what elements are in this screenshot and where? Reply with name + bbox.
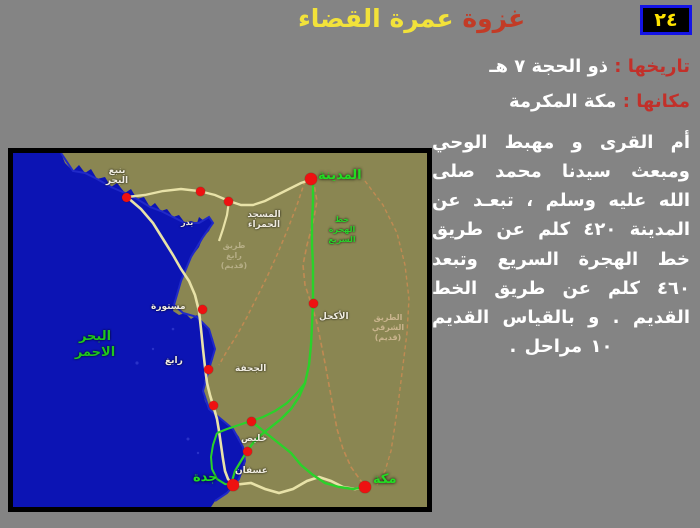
page-title: غزوة عمرة القضاء bbox=[298, 6, 628, 31]
sea-speckle bbox=[135, 361, 138, 364]
date-value: ذو الحجة ٧ هـ bbox=[489, 56, 608, 77]
green-khulais-usfan-makkah bbox=[251, 421, 365, 489]
body-paragraph: أم القرى و مهبط الوحي ومبعث سيدنا محمد ص… bbox=[432, 128, 690, 361]
sea-speckle bbox=[197, 452, 199, 454]
title-yellow-words: عمرة القضاء bbox=[298, 4, 454, 33]
date-label: تاريخها : bbox=[614, 56, 690, 77]
city-dot-jeddah[interactable] bbox=[227, 479, 239, 491]
city-dot-makkah[interactable] bbox=[359, 481, 371, 493]
map-canvas: البحر الاحمر المدينة مكة جدة ينبع البحر … bbox=[13, 153, 427, 507]
slide-number-badge: ٢٤ bbox=[640, 5, 692, 35]
city-dot-road-node-1[interactable] bbox=[196, 187, 205, 196]
slide-root: ٢٤ غزوة عمرة القضاء تاريخها : ذو الحجة ٧… bbox=[0, 0, 700, 528]
badr-connector bbox=[219, 201, 229, 241]
map-geometry bbox=[13, 153, 427, 507]
yanbu-badr-medina-road bbox=[127, 179, 313, 205]
place-line: مكانها : مكة المكرمة bbox=[432, 93, 690, 111]
city-dot-juhfa[interactable] bbox=[209, 401, 218, 410]
place-value: مكة المكرمة bbox=[509, 91, 617, 112]
date-line: تاريخها : ذو الحجة ٧ هـ bbox=[432, 58, 690, 76]
city-dot-akhal[interactable] bbox=[309, 299, 318, 308]
rabigh-old-route bbox=[219, 181, 305, 365]
hijra-fast-highway bbox=[247, 181, 313, 451]
city-dot-mastura[interactable] bbox=[198, 305, 207, 314]
text-panel: تاريخها : ذو الحجة ٧ هـ مكانها : مكة الم… bbox=[432, 58, 690, 361]
sea-speckle bbox=[187, 438, 190, 441]
jeddah-makkah-road bbox=[233, 477, 365, 493]
city-dot-rabigh[interactable] bbox=[204, 365, 213, 374]
city-dot-badr[interactable] bbox=[224, 197, 233, 206]
title-red-word: غزوة bbox=[462, 4, 525, 33]
eastern-border-route bbox=[365, 181, 409, 485]
city-dot-khulais[interactable] bbox=[247, 417, 256, 426]
slide-number: ٢٤ bbox=[654, 11, 677, 30]
map-frame: البحر الاحمر المدينة مكة جدة ينبع البحر … bbox=[8, 148, 432, 512]
place-label: مكانها : bbox=[623, 91, 690, 112]
city-dot-usfan[interactable] bbox=[243, 447, 252, 456]
city-dot-medina[interactable] bbox=[305, 173, 317, 185]
sea-speckle bbox=[152, 348, 154, 350]
sea-speckle bbox=[172, 328, 175, 331]
city-dot-yanbu[interactable] bbox=[122, 193, 131, 202]
